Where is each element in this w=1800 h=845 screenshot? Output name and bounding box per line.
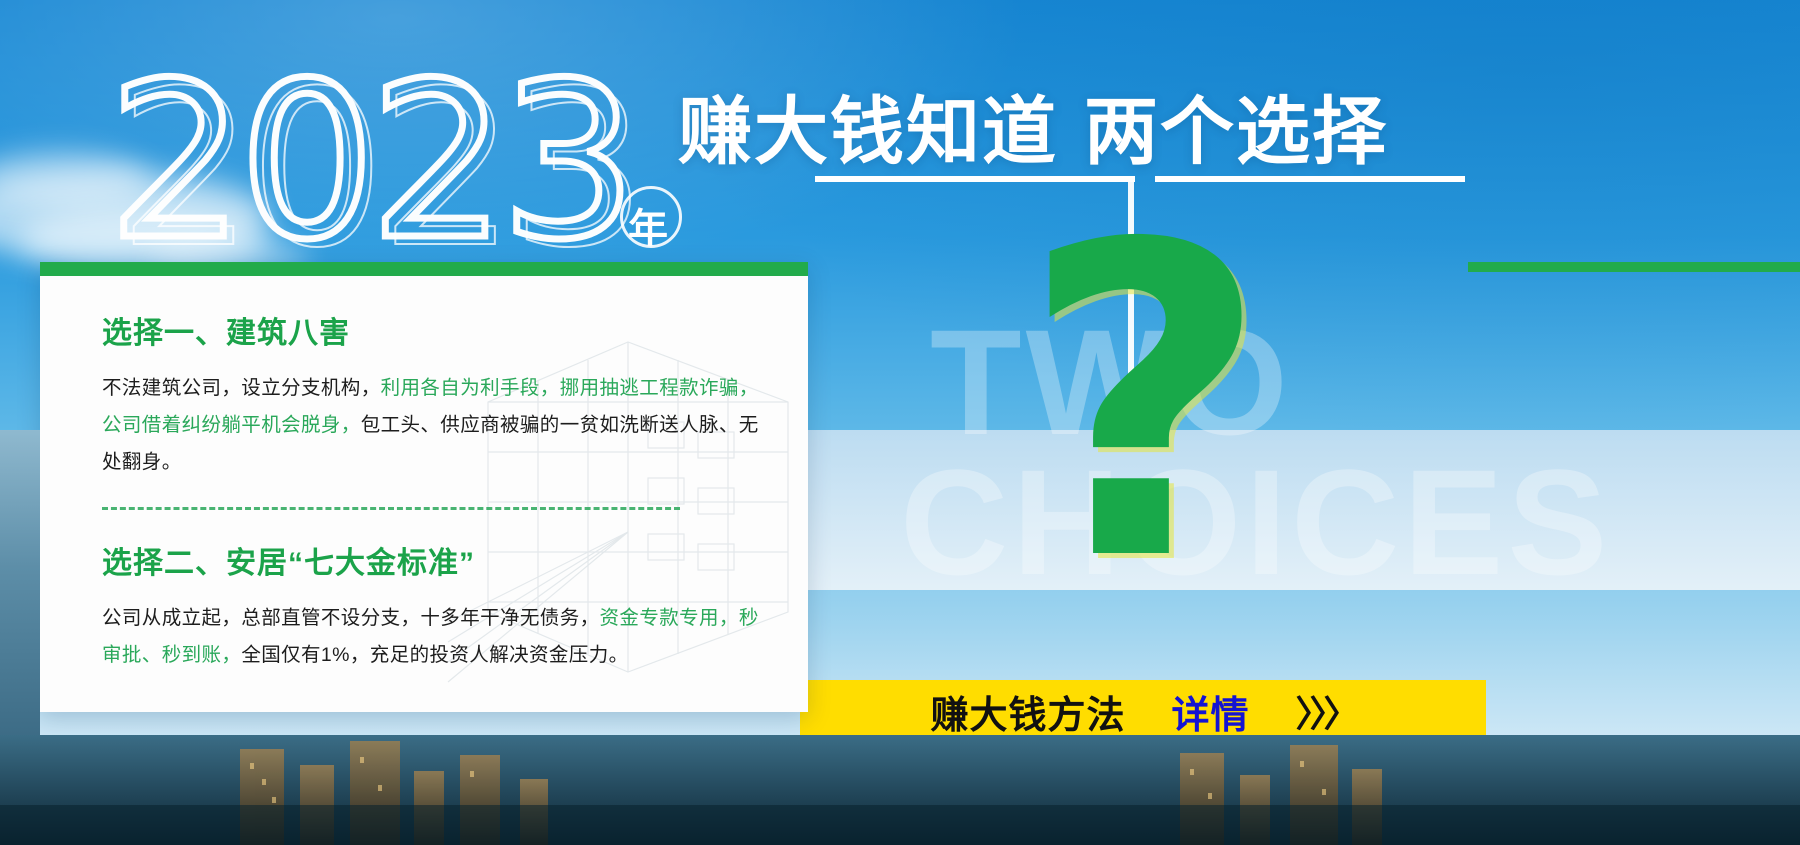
option-1-title: 选择一、建筑八害 bbox=[102, 308, 768, 352]
year-suffix-label: 年 bbox=[628, 196, 668, 254]
chevron-right-icon: 〉〉〉 bbox=[1296, 685, 1356, 737]
cta-detail-link[interactable]: 详情 bbox=[1171, 684, 1249, 739]
options-card: 选择一、建筑八害 不法建筑公司，设立分支机构，利用各自为利手段，挪用抽逃工程款诈… bbox=[40, 262, 808, 712]
option-1-body-part1: 不法建筑公司，设立分支机构， bbox=[102, 377, 381, 399]
headline-part-1: 赚大钱知道 bbox=[678, 90, 1058, 173]
green-accent-bar bbox=[1468, 262, 1800, 272]
option-1-body: 不法建筑公司，设立分支机构，利用各自为利手段，挪用抽逃工程款诈骗，公司借着纠纷躺… bbox=[102, 370, 768, 481]
question-mark-icon: ? bbox=[1020, 205, 1280, 605]
cta-main-label: 赚大钱方法 bbox=[930, 684, 1125, 739]
cta-button[interactable]: 赚大钱方法 详情 〉〉〉 bbox=[800, 680, 1486, 742]
option-2-body: 公司从成立起，总部直管不设分支，十多年干净无债务，资金专款专用，秒审批、秒到账，… bbox=[102, 600, 768, 674]
option-2-title: 选择二、安居“七大金标准” bbox=[102, 538, 768, 582]
left-edge-photo bbox=[0, 430, 40, 735]
promo-banner: 2023 2023 年 赚大钱知道两个选择 TWO CHOICES ? 赚大钱方… bbox=[0, 0, 1800, 845]
option-2-body-part3: 全国仅有1%，充足的投资人解决资金压力。 bbox=[241, 644, 628, 666]
section-divider bbox=[102, 507, 680, 510]
year-2023: 2023 bbox=[108, 62, 631, 262]
option-2-body-part1: 公司从成立起，总部直管不设分支，十多年干净无债务， bbox=[102, 607, 600, 629]
bottom-skyline-graphic bbox=[0, 735, 1800, 845]
bottom-photo-band bbox=[0, 735, 1800, 845]
